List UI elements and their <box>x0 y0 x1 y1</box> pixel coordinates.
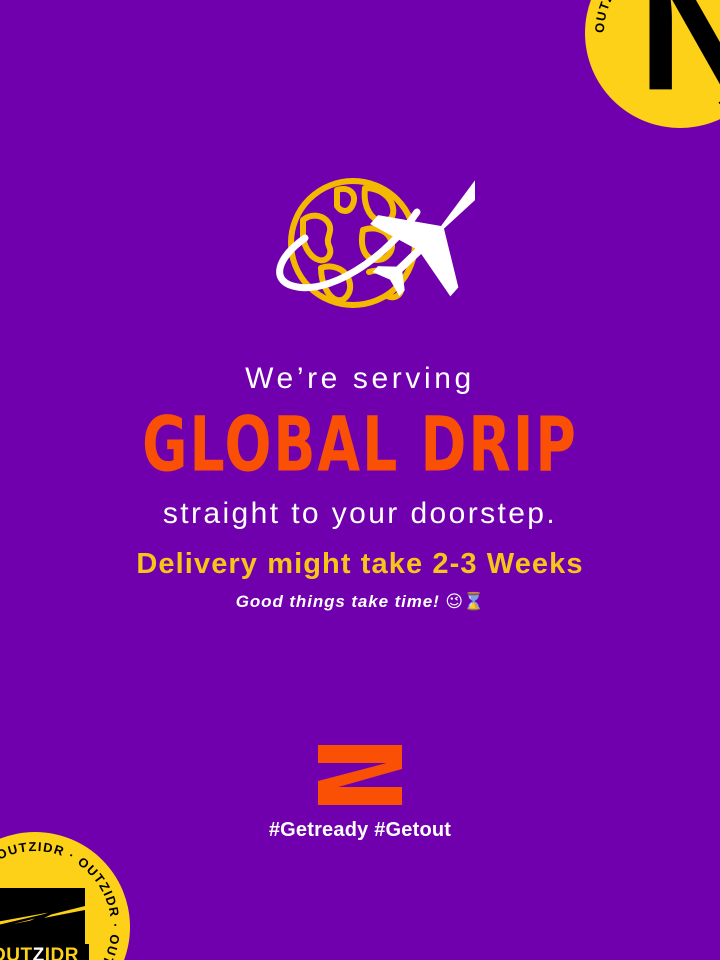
delivery-reassurance-text: Good things take time! 😉⌛ <box>0 592 720 613</box>
badge-wordmark: OUTZIDR <box>0 944 89 960</box>
headline-text: GLOBAL DRIP <box>4 402 717 487</box>
badge-wordmark-prefix: OUT <box>0 945 33 960</box>
outzidr-z-logo-icon <box>318 745 402 805</box>
badge-bottom-left: OUTZIDR · OUTZIDR · OUTZIDR · OUTZIDR · … <box>0 832 130 960</box>
badge-top-right: OUTZIDR · OUTZIDR · OUTZIDR · OUTZIDR · … <box>585 0 720 128</box>
z-mark-icon <box>0 886 87 948</box>
eyebrow-text: We’re serving <box>0 362 720 396</box>
badge-wordmark-suffix: IDR <box>45 945 79 960</box>
hashtags-text: #Getready #Getout <box>0 819 720 842</box>
delivery-time-text: Delivery might take 2-3 Weeks <box>0 548 720 581</box>
subline-text: straight to your doorstep. <box>0 497 720 531</box>
delivery-note-block: Delivery might take 2-3 Weeks Good thing… <box>0 548 720 613</box>
badge-core-top-right: N <box>623 0 720 102</box>
badge-center-letter: N <box>623 0 720 102</box>
poster-canvas: OUTZIDR · OUTZIDR · OUTZIDR · OUTZIDR · … <box>0 0 720 960</box>
brand-block: #Getready #Getout <box>0 745 720 842</box>
globe-with-airplane-icon <box>245 168 475 333</box>
globe-illustration <box>0 168 720 333</box>
wink-hourglass-emoji: 😉⌛ <box>445 592 484 612</box>
badge-core-bottom-left: OUTZIDR <box>0 886 89 960</box>
headline-block: We’re serving GLOBAL DRIP straight to yo… <box>0 362 720 531</box>
badge-wordmark-z: Z <box>33 945 45 960</box>
delivery-reassurance-label: Good things take time! <box>236 592 440 611</box>
